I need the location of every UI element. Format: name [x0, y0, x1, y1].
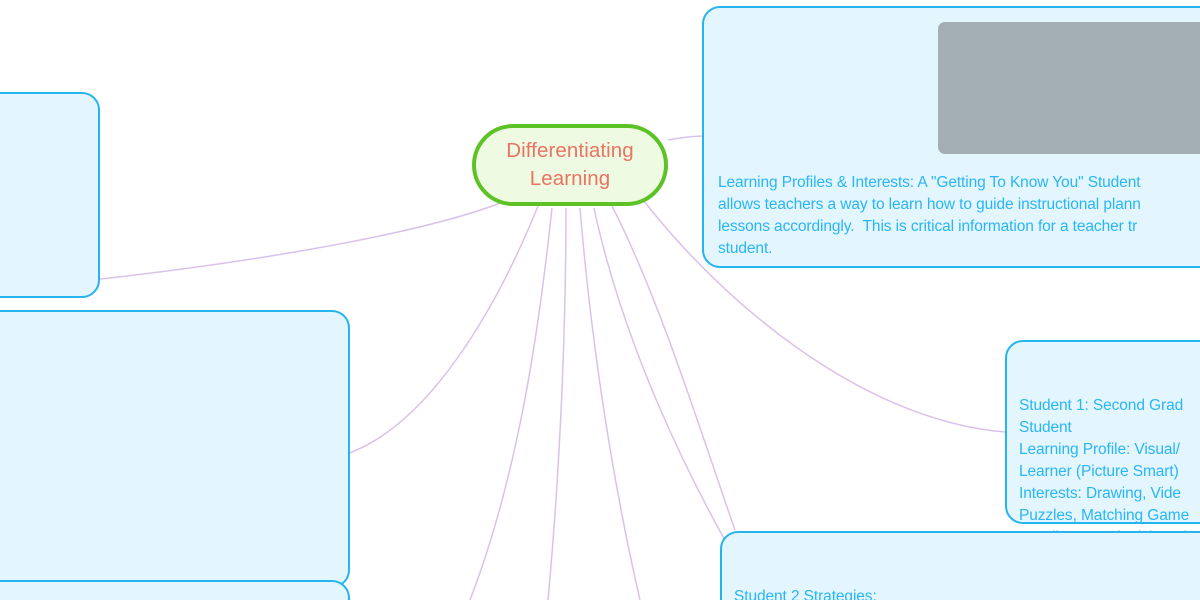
node-student-1-profile[interactable]: Student 1: Second Grad Student Learning … [1005, 340, 1200, 524]
node-learning-profiles-interests[interactable]: Learning Profiles & Interests: A "Gettin… [702, 6, 1200, 268]
mindmap-canvas: Differentiating Learning ord oks, Playin… [0, 0, 1200, 600]
node-learning-profile-left-text: ord oks, Playing zles, Loves tive), ion [0, 164, 78, 318]
node-student-2-strategies[interactable]: Student 2 Strategies: Teaching Strategy … [720, 531, 1200, 600]
root-node[interactable]: Differentiating Learning [472, 124, 668, 206]
node-learning-profiles-interests-text: Learning Profiles & Interests: A "Gettin… [718, 172, 1200, 260]
node-student-2-strategies-text: Student 2 Strategies: Teaching Strategy … [734, 586, 1200, 600]
node-teaching-strategies-left[interactable]: group. Before reading teacher will intro… [0, 310, 350, 588]
connector-curve-c [580, 208, 640, 600]
node-learning-profile-left[interactable]: ord oks, Playing zles, Loves tive), ion [0, 92, 100, 298]
connector-curve-a [470, 208, 552, 600]
connector-to-strategies-left [340, 206, 538, 456]
node-bottom-left[interactable] [0, 580, 350, 600]
root-node-label: Differentiating Learning [476, 137, 664, 193]
connector-curve-b [548, 208, 566, 600]
student-survey-image [938, 22, 1200, 154]
node-teaching-strategies-left-text: group. Before reading teacher will intro… [0, 384, 326, 600]
